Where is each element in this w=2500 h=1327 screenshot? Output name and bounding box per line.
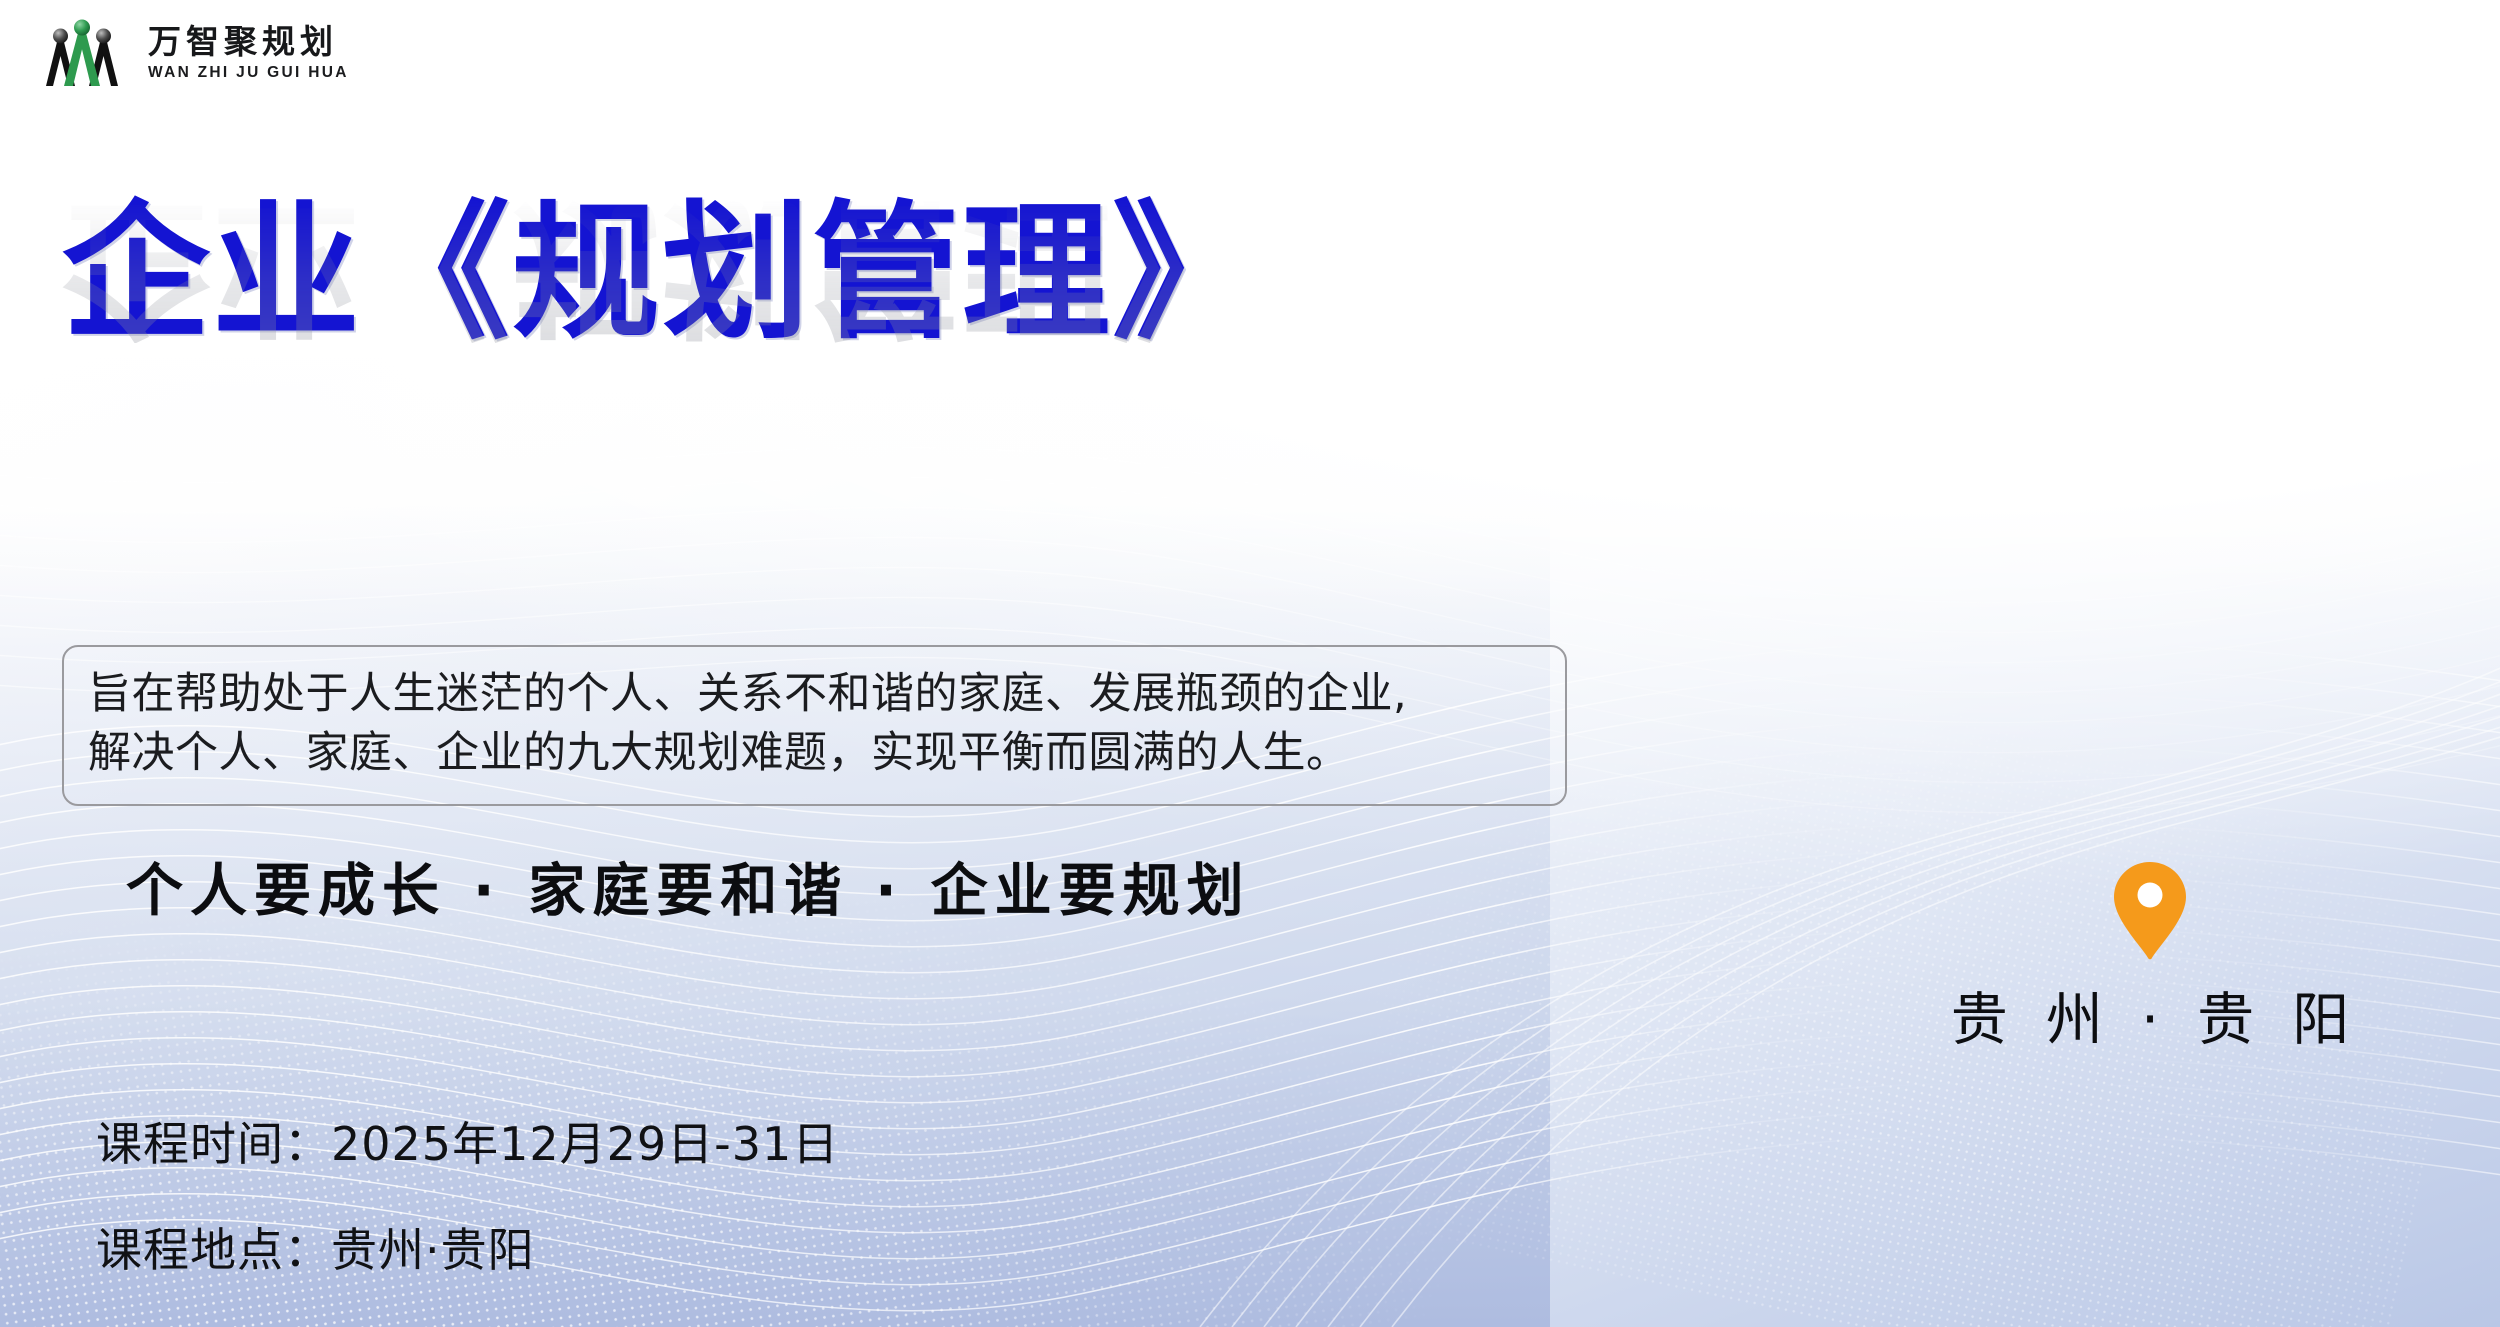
map-pin-icon	[2113, 862, 2187, 960]
page-title-reflection: 企业《规划管理》	[62, 188, 1622, 343]
course-info-block: 课程时间：2025年12月29日-31日 课程地点：贵州·贵阳	[96, 1108, 839, 1280]
course-time-row: 课程时间：2025年12月29日-31日	[96, 1108, 839, 1174]
hero-title-block: 企业《规划管理》 企业《规划管理》	[62, 196, 1622, 499]
location-block: 贵 州 · 贵 阳	[1940, 862, 2360, 1056]
brand-name-pinyin: WAN ZHI JU GUI HUA	[148, 65, 349, 81]
description-box: 旨在帮助处于人生迷茫的个人、关系不和谐的家庭、发展瓶颈的企业, 解决个人、家庭、…	[62, 645, 1567, 806]
slogan-text: 个人要成长 · 家庭要和谐 · 企业要规划	[126, 845, 1251, 927]
three-people-logo-icon	[30, 16, 134, 90]
brand-name-cn: 万智聚规划	[148, 25, 349, 58]
description-line-2: 解决个人、家庭、企业的九大规划难题，实现平衡而圆满的人生。	[88, 724, 1541, 783]
brand-text: 万智聚规划 WAN ZHI JU GUI HUA	[148, 25, 349, 81]
course-place-row: 课程地点：贵州·贵阳	[96, 1214, 839, 1280]
description-line-1: 旨在帮助处于人生迷茫的个人、关系不和谐的家庭、发展瓶颈的企业,	[88, 665, 1541, 724]
location-name: 贵 州 · 贵 阳	[1940, 974, 2360, 1056]
poster-canvas: 万智聚规划 WAN ZHI JU GUI HUA 企业《规划管理》 企业《规划管…	[0, 0, 2500, 1327]
brand-logo[interactable]: 万智聚规划 WAN ZHI JU GUI HUA	[30, 16, 349, 90]
